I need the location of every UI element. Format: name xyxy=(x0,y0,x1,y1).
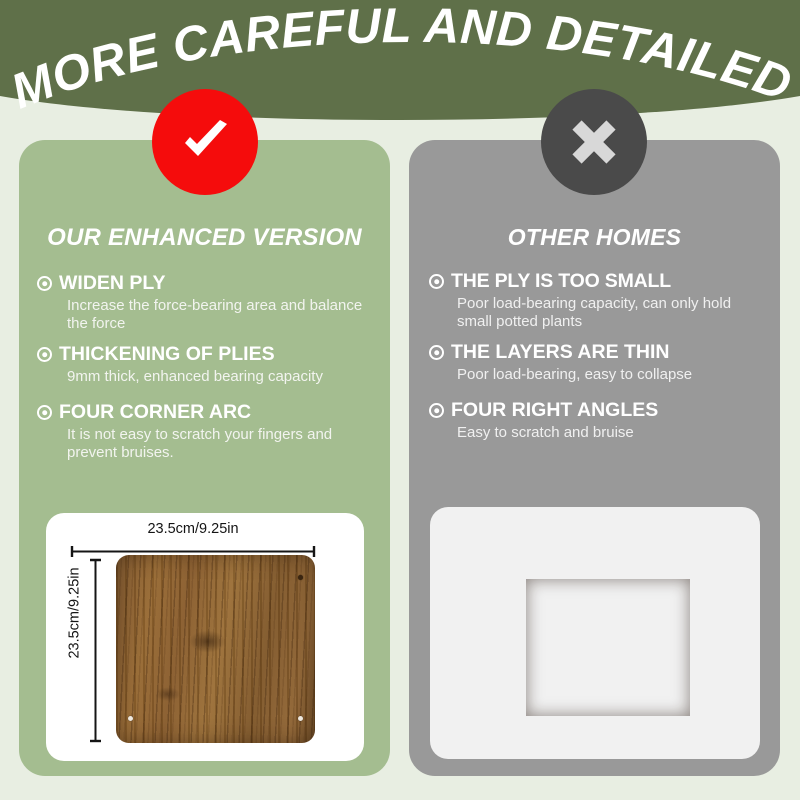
rustic-wood-board-image xyxy=(116,555,315,743)
height-dimension-label: 23.5cm/9.25in xyxy=(67,521,83,706)
feature-item: THE LAYERS ARE THIN Poor load-bearing, e… xyxy=(429,342,770,384)
enhanced-version-title: OUR ENHANCED VERSION xyxy=(19,224,390,252)
dark-walnut-board-image xyxy=(526,579,690,716)
ring-bullet-icon xyxy=(429,274,444,289)
enhanced-version-card: OUR ENHANCED VERSION WIDEN PLY Increase … xyxy=(19,140,390,776)
other-homes-feature-list: THE PLY IS TOO SMALL Poor load-bearing c… xyxy=(429,271,770,453)
width-dimension-label: 23.5cm/9.25in xyxy=(70,521,316,537)
feature-heading-row: THICKENING OF PLIES xyxy=(37,344,378,365)
feature-detail: It is not easy to scratch your fingers a… xyxy=(67,426,378,461)
screw-hole xyxy=(298,716,303,721)
feature-heading: FOUR CORNER ARC xyxy=(59,402,251,423)
height-dimension-line xyxy=(90,558,101,743)
ring-bullet-icon xyxy=(37,276,52,291)
other-homes-card: OTHER HOMES THE PLY IS TOO SMALL Poor lo… xyxy=(409,140,780,776)
ring-bullet-icon xyxy=(37,347,52,362)
enhanced-feature-list: WIDEN PLY Increase the force-bearing are… xyxy=(37,273,378,473)
feature-detail: Easy to scratch and bruise xyxy=(457,424,770,442)
cross-badge xyxy=(541,89,647,195)
feature-heading-row: FOUR RIGHT ANGLES xyxy=(429,400,770,421)
feature-item: FOUR RIGHT ANGLES Easy to scratch and br… xyxy=(429,400,770,442)
feature-item: THE PLY IS TOO SMALL Poor load-bearing c… xyxy=(429,271,770,331)
check-badge xyxy=(152,89,258,195)
screw-hole xyxy=(298,575,303,580)
other-homes-product-photo-panel xyxy=(430,507,760,759)
screw-hole xyxy=(128,716,133,721)
other-homes-title: OTHER HOMES xyxy=(409,224,780,251)
ring-bullet-icon xyxy=(429,345,444,360)
feature-detail: Increase the force-bearing area and bala… xyxy=(67,297,378,332)
page-title: MORE CAREFUL AND DETAILED xyxy=(0,0,800,150)
feature-heading: WIDEN PLY xyxy=(59,273,166,294)
feature-heading: THE LAYERS ARE THIN xyxy=(451,342,670,363)
feature-heading: THICKENING OF PLIES xyxy=(59,344,275,365)
ring-bullet-icon xyxy=(429,403,444,418)
feature-heading-row: WIDEN PLY xyxy=(37,273,378,294)
cross-icon xyxy=(566,114,622,170)
infographic-root: MORE CAREFUL AND DETAILED OUR ENHANCED V… xyxy=(0,0,800,800)
feature-detail: Poor load-bearing, easy to collapse xyxy=(457,366,770,384)
feature-item: THICKENING OF PLIES 9mm thick, enhanced … xyxy=(37,344,378,386)
check-icon xyxy=(174,111,236,173)
feature-heading: FOUR RIGHT ANGLES xyxy=(451,400,658,421)
feature-heading-row: THE LAYERS ARE THIN xyxy=(429,342,770,363)
feature-heading-row: THE PLY IS TOO SMALL xyxy=(429,271,770,292)
feature-detail: Poor load-bearing capacity, can only hol… xyxy=(457,295,770,330)
feature-detail: 9mm thick, enhanced bearing capacity xyxy=(67,368,378,386)
page-title-text: MORE CAREFUL AND DETAILED xyxy=(4,0,799,119)
enhanced-product-photo-panel: 23.5cm/9.25in 23.5cm/9.25in xyxy=(46,513,364,761)
feature-item: FOUR CORNER ARC It is not easy to scratc… xyxy=(37,402,378,462)
ring-bullet-icon xyxy=(37,405,52,420)
feature-heading-row: FOUR CORNER ARC xyxy=(37,402,378,423)
feature-item: WIDEN PLY Increase the force-bearing are… xyxy=(37,273,378,333)
feature-heading: THE PLY IS TOO SMALL xyxy=(451,271,671,292)
